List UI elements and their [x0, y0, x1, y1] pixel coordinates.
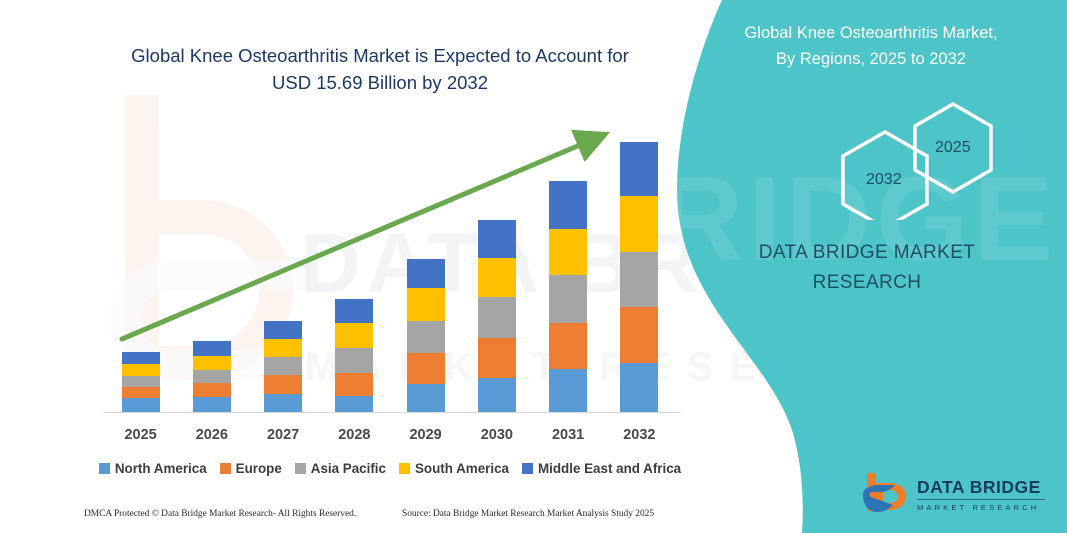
bar-segment: [264, 321, 302, 339]
x-axis-tick-label: 2027: [248, 427, 318, 443]
logo-subtitle: MARKET RESEARCH: [917, 503, 1045, 512]
bar-column: [462, 120, 532, 412]
infographic-page: DATA BRIDGE MARKET RESEARCH Global Knee …: [0, 0, 1067, 533]
bar-segment: [122, 387, 160, 398]
logo-title: DATA BRIDGE: [917, 477, 1045, 498]
hexagon-shapes: [777, 100, 1037, 220]
stacked-bar: [478, 220, 516, 412]
bar-segment: [193, 383, 231, 397]
legend-item[interactable]: Middle East and Africa: [522, 461, 681, 476]
bar-column: [319, 120, 389, 412]
bar-segment: [549, 369, 587, 412]
stacked-bar: [620, 142, 658, 412]
x-axis-tick-label: 2030: [462, 427, 532, 443]
legend-swatch-icon: [522, 463, 533, 474]
chart-panel: DATA BRIDGE MARKET RESEARCH Global Knee …: [0, 0, 760, 533]
x-axis-tick-label: 2028: [319, 427, 389, 443]
legend-item[interactable]: North America: [99, 461, 207, 476]
legend-swatch-icon: [99, 463, 110, 474]
bar-segment: [193, 370, 231, 383]
bar-segment: [407, 353, 445, 384]
bar-segment: [335, 299, 373, 323]
legend-item[interactable]: Europe: [220, 461, 282, 476]
bar-segment: [407, 321, 445, 353]
bar-column: [106, 120, 176, 412]
bar-segment: [335, 373, 373, 396]
bar-segment: [122, 364, 160, 376]
x-axis-tick-label: 2031: [533, 427, 603, 443]
legend-label: South America: [415, 461, 509, 476]
logo-mark-icon: [859, 471, 915, 517]
bar-segment: [549, 181, 587, 229]
bar-segment: [264, 357, 302, 375]
bar-segment: [478, 297, 516, 338]
bar-column: [248, 120, 318, 412]
legend-swatch-icon: [295, 463, 306, 474]
logo-divider: [917, 499, 1045, 500]
source-notice: Source: Data Bridge Market Research Mark…: [402, 509, 654, 519]
x-axis-tick-label: 2026: [177, 427, 247, 443]
stacked-bar: [407, 259, 445, 412]
bar-segment: [264, 375, 302, 394]
legend-label: Asia Pacific: [311, 461, 386, 476]
legend-item[interactable]: South America: [399, 461, 509, 476]
legend-label: Middle East and Africa: [538, 461, 681, 476]
bar-segment: [193, 356, 231, 370]
bar-segment: [122, 398, 160, 412]
legend-label: Europe: [236, 461, 282, 476]
legend-swatch-icon: [399, 463, 410, 474]
x-axis-tick-label: 2029: [391, 427, 461, 443]
bar-segment: [478, 338, 516, 378]
x-axis-tick-label: 2032: [604, 427, 674, 443]
x-axis-tick-label: 2025: [106, 427, 176, 443]
bar-segment: [478, 220, 516, 258]
x-axis-tick-labels: 20252026202720282029203020312032: [105, 427, 675, 443]
panel-title: Global Knee Osteoarthritis Market, By Re…: [695, 20, 1047, 72]
legend-swatch-icon: [220, 463, 231, 474]
page-title: Global Knee Osteoarthritis Market is Exp…: [60, 42, 700, 96]
bar-segment: [620, 142, 658, 196]
bar-segment: [620, 363, 658, 412]
stacked-bar: [335, 299, 373, 412]
stacked-bar: [264, 321, 302, 412]
bar-segment: [335, 323, 373, 348]
hexagon-2032-label: 2032: [866, 171, 902, 189]
stacked-bar: [122, 352, 160, 412]
bar-segment: [264, 394, 302, 412]
chart-plot-area: [105, 120, 675, 412]
bar-segment: [478, 378, 516, 412]
company-logo: DATA BRIDGE MARKET RESEARCH: [859, 471, 1049, 521]
bar-segment: [193, 397, 231, 412]
page-title-line2: USD 15.69 Billion by 2032: [272, 72, 488, 93]
branding-panel: RIDGE Global Knee Osteoarthritis Market,…: [667, 0, 1067, 533]
bar-segment: [549, 323, 587, 369]
hexagon-2025-label: 2025: [935, 139, 971, 157]
bar-segment: [122, 352, 160, 364]
bar-segment: [122, 376, 160, 387]
bar-column: [604, 120, 674, 412]
hexagon-badges: 2025 2032: [777, 100, 1037, 220]
bar-segment: [407, 384, 445, 412]
logo-wordmark: DATA BRIDGE MARKET RESEARCH: [917, 477, 1045, 512]
bar-column: [533, 120, 603, 412]
bar-segment: [407, 259, 445, 288]
legend-item[interactable]: Asia Pacific: [295, 461, 386, 476]
brand-name-line1: DATA BRIDGE MARKET: [759, 242, 976, 263]
bar-segment: [620, 252, 658, 307]
bar-segment: [335, 396, 373, 412]
brand-name: DATA BRIDGE MARKET RESEARCH: [687, 238, 1047, 298]
brand-name-line2: RESEARCH: [813, 272, 922, 293]
bar-segment: [620, 196, 658, 252]
bar-column: [177, 120, 247, 412]
bar-column: [391, 120, 461, 412]
bar-segment: [407, 288, 445, 321]
bar-group: [105, 120, 675, 412]
page-title-line1: Global Knee Osteoarthritis Market is Exp…: [131, 45, 629, 66]
stacked-bar: [549, 181, 587, 412]
legend-label: North America: [115, 461, 207, 476]
background-logo-watermark: [105, 95, 320, 385]
bar-segment: [620, 307, 658, 363]
stacked-bar: [193, 341, 231, 412]
bar-segment: [549, 275, 587, 323]
panel-title-line1: Global Knee Osteoarthritis Market,: [744, 24, 997, 42]
bar-segment: [335, 348, 373, 373]
x-axis-line: [103, 412, 681, 413]
bar-segment: [264, 339, 302, 357]
bar-segment: [193, 341, 231, 356]
panel-title-line2: By Regions, 2025 to 2032: [776, 50, 966, 68]
bar-segment: [549, 229, 587, 275]
copyright-notice: DMCA Protected © Data Bridge Market Rese…: [84, 509, 356, 519]
chart-legend: North AmericaEuropeAsia PacificSouth Ame…: [100, 461, 680, 476]
bar-segment: [478, 258, 516, 297]
growth-trend-arrow: [100, 120, 620, 360]
